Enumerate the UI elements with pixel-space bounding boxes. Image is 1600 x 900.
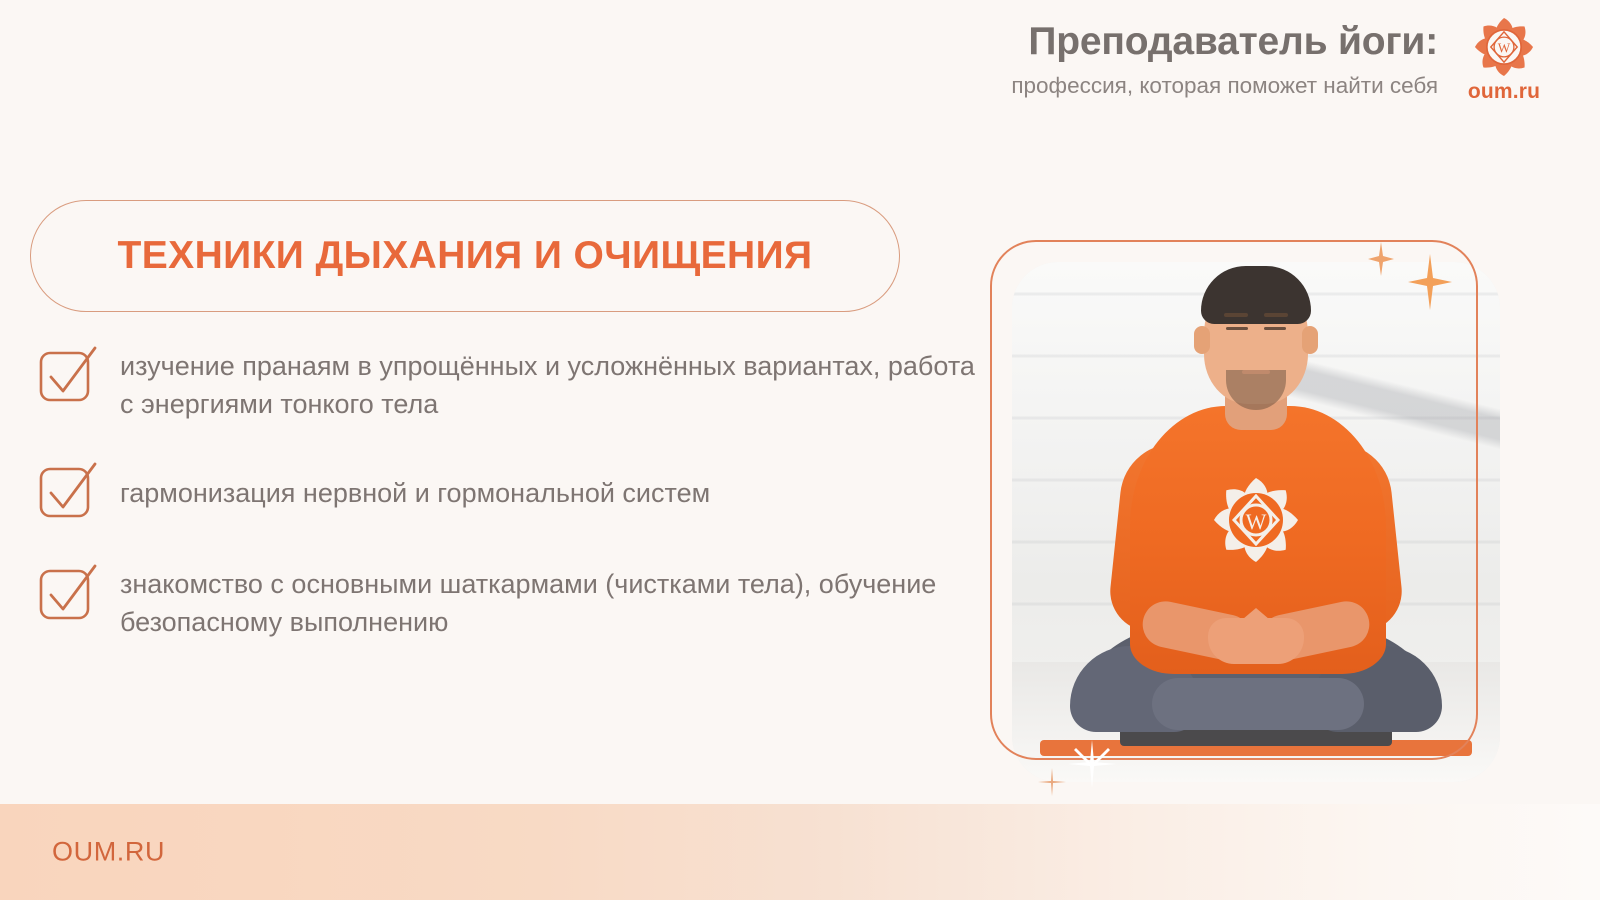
eye-left-closed [1226, 327, 1248, 330]
checkbox-checked-icon [38, 462, 96, 520]
eyebrow-right [1264, 313, 1288, 317]
list-item: изучение пранаям в упрощённых и усложнён… [38, 344, 978, 424]
footer-site-label: OUM.RU [52, 837, 165, 868]
brand-name: oum.ru [1468, 81, 1540, 102]
meditation-photo: W [1012, 262, 1500, 782]
lotus-mandala-icon: W [1471, 14, 1537, 80]
footer-band: OUM.RU [0, 804, 1600, 900]
eye-right-closed [1264, 327, 1286, 330]
ear-left [1194, 326, 1210, 354]
person-figure: W [1012, 262, 1500, 782]
slide-header: Преподаватель йоги: профессия, которая п… [1011, 14, 1548, 102]
checkbox-checked-icon [38, 346, 96, 404]
slide-root: Преподаватель йоги: профессия, которая п… [0, 0, 1600, 900]
section-title-pill: ТЕХНИКИ ДЫХАНИЯ И ОЧИЩЕНИЯ [30, 200, 900, 312]
list-item-text: знакомство с основными шаткармами (чистк… [120, 562, 960, 642]
oum-mandala-icon: W [1206, 470, 1306, 570]
svg-text:W: W [1498, 40, 1511, 55]
header-text-block: Преподаватель йоги: профессия, которая п… [1011, 16, 1438, 100]
photo-block: W [990, 240, 1530, 785]
header-title: Преподаватель йоги: [1011, 20, 1438, 64]
list-item: знакомство с основными шаткармами (чистк… [38, 562, 978, 642]
checkbox-checked-icon [38, 564, 96, 622]
hair [1201, 266, 1311, 324]
list-item: гармонизация нервной и гормональной сист… [38, 462, 978, 520]
brand-logo[interactable]: W oum.ru [1460, 14, 1548, 102]
mouth [1242, 370, 1270, 374]
ear-right [1302, 326, 1318, 354]
eyebrow-left [1224, 313, 1248, 317]
header-subtitle: профессия, которая поможет найти себя [1011, 72, 1438, 100]
section-title-text: ТЕХНИКИ ДЫХАНИЯ И ОЧИЩЕНИЯ [118, 234, 813, 278]
list-item-text: изучение пранаям в упрощённых и усложнён… [120, 344, 978, 424]
list-item-text: гармонизация нервной и гормональной сист… [120, 462, 710, 512]
svg-text:W: W [1246, 509, 1267, 534]
bullet-list: изучение пранаям в упрощённых и усложнён… [38, 344, 978, 641]
shin [1152, 678, 1364, 730]
hands-mudra [1208, 618, 1304, 664]
